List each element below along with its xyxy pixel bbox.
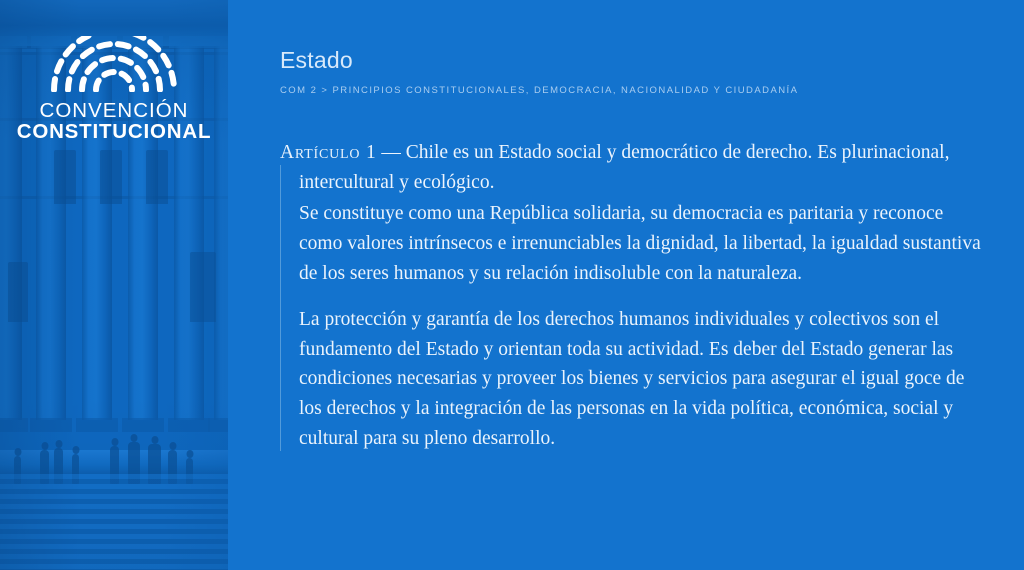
brand-image-panel: CONVENCIÓN CONSTITUCIONAL [0, 0, 228, 570]
article-dash: — [377, 142, 406, 163]
article-body: Artículo 1 — Chile es un Estado social y… [280, 138, 988, 453]
slide-root: CONVENCIÓN CONSTITUCIONAL Estado COM 2 >… [0, 0, 1024, 570]
content-header: Estado COM 2 > PRINCIPIOS CONSTITUCIONAL… [280, 48, 984, 97]
convencion-arc-icon [44, 36, 184, 92]
article-lead-paragraph: Artículo 1 — Chile es un Estado social y… [280, 138, 988, 197]
breadcrumb: COM 2 > PRINCIPIOS CONSTITUCIONALES, DEM… [280, 85, 984, 96]
vertical-rule [280, 165, 281, 451]
page-title: Estado [280, 48, 984, 73]
article-paragraphs: Se constituye como una República solidar… [280, 199, 988, 453]
logo-text-primary: CONVENCIÓN [0, 100, 228, 121]
article-paragraph: Se constituye como una República solidar… [299, 199, 988, 288]
article-label: Artículo 1 [280, 142, 377, 163]
logo-text-secondary: CONSTITUCIONAL [0, 121, 228, 143]
logo: CONVENCIÓN CONSTITUCIONAL [0, 36, 228, 143]
article-paragraph: La protección y garantía de los derechos… [299, 305, 988, 453]
content-panel: Estado COM 2 > PRINCIPIOS CONSTITUCIONAL… [228, 0, 1024, 570]
